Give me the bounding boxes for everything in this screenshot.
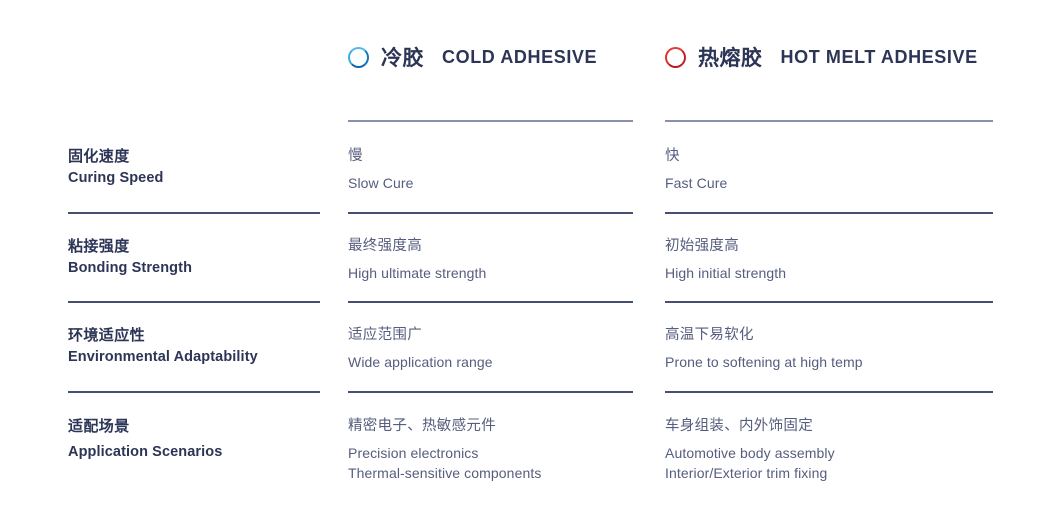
- circle-outline-icon: [665, 47, 686, 68]
- cell-value-cn: 高温下易软化: [665, 324, 993, 347]
- row-label-curing-speed: 固化速度 Curing Speed: [68, 145, 320, 190]
- row-label-cn: 适配场景: [68, 415, 320, 438]
- cell-hot-environmental-adaptability: 高温下易软化 Prone to softening at high temp: [665, 324, 993, 372]
- cell-value-en: High ultimate strength: [348, 263, 633, 283]
- row-divider-1-hot: [665, 212, 993, 214]
- cell-value-en: Slow Cure: [348, 173, 633, 193]
- cell-value-cn: 慢: [348, 145, 633, 168]
- row-label-cn: 环境适应性: [68, 324, 320, 347]
- cell-cold-environmental-adaptability: 适应范围广 Wide application range: [348, 324, 633, 372]
- cell-hot-bonding-strength: 初始强度高 High initial strength: [665, 235, 993, 283]
- cell-value-en: Fast Cure: [665, 173, 993, 193]
- header-divider-hot: [665, 120, 993, 122]
- column-header-cold-title-cn: 冷胶: [381, 42, 424, 72]
- cell-value-cn: 适应范围广: [348, 324, 633, 347]
- row-divider-2-cold: [348, 301, 633, 303]
- row-label-bonding-strength: 粘接强度 Bonding Strength: [68, 235, 320, 280]
- cell-value-en: Prone to softening at high temp: [665, 352, 993, 372]
- row-label-cn: 固化速度: [68, 145, 320, 168]
- row-divider-2-hot: [665, 301, 993, 303]
- column-header-cold-adhesive: 冷胶 COLD ADHESIVE: [348, 42, 633, 72]
- cell-hot-application-scenarios: 车身组装、内外饰固定 Automotive body assembly Inte…: [665, 415, 993, 484]
- cell-value-cn: 初始强度高: [665, 235, 993, 258]
- cell-value-en-line1: Precision electronics: [348, 443, 633, 463]
- cell-value-en-line1: Automotive body assembly: [665, 443, 993, 463]
- cell-value-en: Wide application range: [348, 352, 633, 372]
- comparison-table: 冷胶 COLD ADHESIVE 热熔胶 HOT MELT ADHESIVE 固…: [0, 0, 1058, 530]
- row-divider-2-label: [68, 301, 320, 303]
- row-label-environmental-adaptability: 环境适应性 Environmental Adaptability: [68, 324, 320, 369]
- row-label-cn: 粘接强度: [68, 235, 320, 258]
- cell-value-en-line2: Thermal-sensitive components: [348, 463, 633, 483]
- cell-hot-curing-speed: 快 Fast Cure: [665, 145, 993, 193]
- row-divider-3-hot: [665, 391, 993, 393]
- column-header-hot-title-cn: 热熔胶: [698, 42, 763, 72]
- row-label-en: Curing Speed: [68, 168, 320, 190]
- row-label-en: Environmental Adaptability: [68, 347, 320, 369]
- column-header-cold-title-en: COLD ADHESIVE: [442, 47, 597, 68]
- header-divider-cold: [348, 120, 633, 122]
- column-header-hot-melt-adhesive: 热熔胶 HOT MELT ADHESIVE: [665, 42, 993, 72]
- cell-value-cn: 精密电子、热敏感元件: [348, 415, 633, 438]
- cell-value-en: High initial strength: [665, 263, 993, 283]
- row-label-en: Application Scenarios: [68, 442, 320, 464]
- cell-cold-curing-speed: 慢 Slow Cure: [348, 145, 633, 193]
- cell-value-en-line2: Interior/Exterior trim fixing: [665, 463, 993, 483]
- row-label-application-scenarios: 适配场景 Application Scenarios: [68, 415, 320, 464]
- circle-outline-icon: [348, 47, 369, 68]
- cell-cold-application-scenarios: 精密电子、热敏感元件 Precision electronics Thermal…: [348, 415, 633, 484]
- cell-value-cn: 最终强度高: [348, 235, 633, 258]
- cell-value-cn: 车身组装、内外饰固定: [665, 415, 993, 438]
- column-header-hot-title-en: HOT MELT ADHESIVE: [781, 47, 978, 68]
- row-divider-3-label: [68, 391, 320, 393]
- cell-value-cn: 快: [665, 145, 993, 168]
- row-divider-1-label: [68, 212, 320, 214]
- row-label-en: Bonding Strength: [68, 258, 320, 280]
- cell-cold-bonding-strength: 最终强度高 High ultimate strength: [348, 235, 633, 283]
- row-divider-1-cold: [348, 212, 633, 214]
- row-divider-3-cold: [348, 391, 633, 393]
